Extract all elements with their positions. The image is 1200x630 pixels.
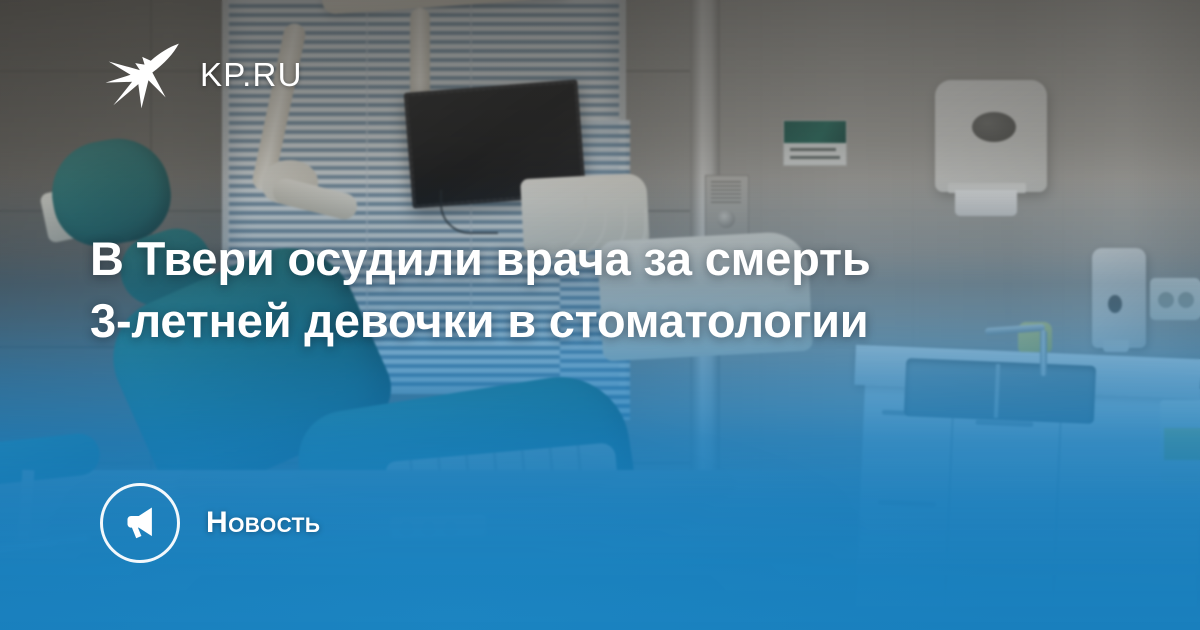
card-foreground: KP.RU В Твери осудили врача за смерть 3-…	[0, 0, 1200, 630]
brand-name-text: KP.RU	[200, 58, 303, 91]
headline: В Твери осудили врача за смерть 3-летней…	[90, 228, 1090, 352]
news-share-card: KP.RU В Твери осудили врача за смерть 3-…	[0, 0, 1200, 630]
badge-label: Новость	[206, 506, 320, 540]
headline-line-1: В Твери осудили врача за смерть	[90, 228, 1090, 290]
headline-line-2: 3-летней девочки в стоматологии	[90, 290, 1090, 352]
content-type-badge: Новость	[100, 483, 320, 563]
brand-logo[interactable]: KP.RU	[104, 38, 303, 110]
megaphone-badge-circle	[100, 483, 180, 563]
megaphone-icon	[121, 504, 159, 542]
swallow-bird-icon	[104, 38, 182, 110]
